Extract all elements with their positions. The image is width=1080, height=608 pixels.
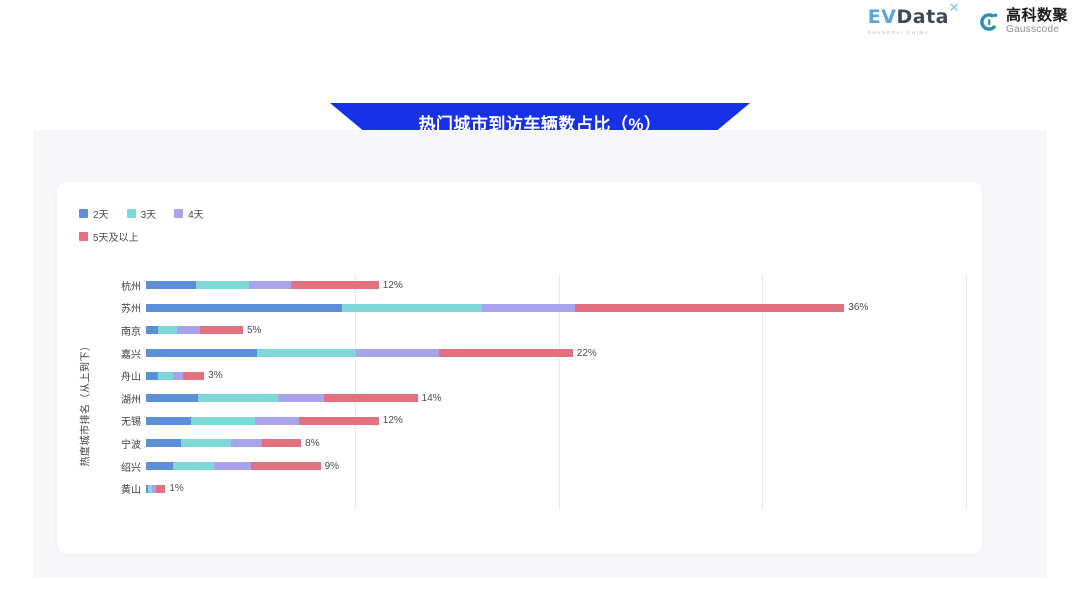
table-row[interactable]: 杭州12% <box>94 274 966 297</box>
bar-segment[interactable] <box>158 326 177 334</box>
gausscode-text: 高科数聚 Gausscode <box>1006 8 1068 35</box>
bar-segment[interactable] <box>173 462 214 470</box>
logo-divider <box>963 9 964 35</box>
legend-label-5days-plus: 5天及以上 <box>93 229 139 244</box>
slide-page: EVData ✕ shanghai china 高科数聚 Gausscode 热… <box>0 0 1080 608</box>
y-axis-title: 热度城市排名（从上到下） <box>76 316 92 491</box>
y-axis-tick-label: 舟山 <box>94 368 146 383</box>
evdata-logo: EVData ✕ shanghai china <box>868 8 949 35</box>
y-axis-tick-label: 苏州 <box>94 300 146 315</box>
bar-segment[interactable] <box>200 326 243 334</box>
bar-segment[interactable] <box>482 304 575 312</box>
bar-value-label: 8% <box>305 438 319 449</box>
legend-swatch-4days <box>174 209 183 218</box>
table-row[interactable]: 嘉兴22% <box>94 342 966 365</box>
table-row[interactable]: 南京5% <box>94 319 966 342</box>
legend-label-3days: 3天 <box>141 206 157 221</box>
bar-segment[interactable] <box>146 417 191 425</box>
legend-swatch-2days <box>79 209 88 218</box>
stacked-bar[interactable] <box>146 326 243 334</box>
bar-segment[interactable] <box>146 281 196 289</box>
bar-segment[interactable] <box>173 372 183 380</box>
bar-segment[interactable] <box>257 349 356 357</box>
bar-segment[interactable] <box>146 372 158 380</box>
legend-label-2days: 2天 <box>93 206 109 221</box>
grid-line <box>966 274 967 510</box>
bar-value-label: 36% <box>848 302 868 313</box>
bar-segment[interactable] <box>146 304 342 312</box>
table-row[interactable]: 无锡12% <box>94 410 966 433</box>
bar-value-label: 9% <box>325 461 339 472</box>
stacked-bar-chart: 热度城市排名（从上到下） 杭州12%苏州36%南京5%嘉兴22%舟山3%湖州14… <box>76 272 966 520</box>
bar-value-label: 1% <box>169 483 183 494</box>
bar-rows: 杭州12%苏州36%南京5%嘉兴22%舟山3%湖州14%无锡12%宁波8%绍兴9… <box>94 272 966 520</box>
bar-segment[interactable] <box>181 439 231 447</box>
stacked-bar[interactable] <box>146 485 165 493</box>
bar-value-label: 22% <box>577 348 597 359</box>
bar-segment[interactable] <box>146 394 198 402</box>
stacked-bar[interactable] <box>146 281 379 289</box>
bar-segment[interactable] <box>177 326 200 334</box>
evdata-wordmark: EVData ✕ <box>868 8 949 27</box>
bar-segment[interactable] <box>299 417 379 425</box>
bar-value-label: 12% <box>383 280 403 291</box>
bar-segment[interactable] <box>214 462 251 470</box>
gausscode-en-name: Gausscode <box>1006 25 1068 35</box>
chart-legend: 2天 3天 4天 5天及以上 <box>79 206 339 244</box>
bar-segment[interactable] <box>291 281 378 289</box>
plot-area: 杭州12%苏州36%南京5%嘉兴22%舟山3%湖州14%无锡12%宁波8%绍兴9… <box>94 272 966 520</box>
bar-segment[interactable] <box>262 439 301 447</box>
stacked-bar[interactable] <box>146 349 573 357</box>
bar-segment[interactable] <box>146 349 257 357</box>
bar-segment[interactable] <box>191 417 255 425</box>
bar-segment[interactable] <box>196 281 248 289</box>
table-row[interactable]: 绍兴9% <box>94 455 966 478</box>
bar-value-label: 5% <box>247 325 261 336</box>
bar-segment[interactable] <box>255 417 300 425</box>
bar-segment[interactable] <box>342 304 482 312</box>
evdata-ev-text: EV <box>868 6 897 28</box>
bar-segment[interactable] <box>251 462 321 470</box>
bar-segment[interactable] <box>439 349 573 357</box>
y-axis-tick-label: 宁波 <box>94 436 146 451</box>
bar-segment[interactable] <box>249 281 292 289</box>
table-row[interactable]: 黄山1% <box>94 477 966 500</box>
gausscode-logo: 高科数聚 Gausscode <box>978 8 1068 35</box>
legend-swatch-3days <box>127 209 136 218</box>
gauss-g-icon <box>978 11 1000 33</box>
bar-segment[interactable] <box>146 462 173 470</box>
bar-segment[interactable] <box>158 372 174 380</box>
stacked-bar[interactable] <box>146 417 379 425</box>
y-axis-tick-label: 黄山 <box>94 481 146 496</box>
legend-label-4days: 4天 <box>188 206 204 221</box>
bar-value-label: 14% <box>422 393 442 404</box>
stacked-bar[interactable] <box>146 372 204 380</box>
evdata-x-icon: ✕ <box>949 2 960 15</box>
y-axis-tick-label: 嘉兴 <box>94 346 146 361</box>
stacked-bar[interactable] <box>146 304 844 312</box>
table-row[interactable]: 苏州36% <box>94 297 966 320</box>
legend-swatch-5days-plus <box>79 232 88 241</box>
bar-segment[interactable] <box>146 439 181 447</box>
bar-segment[interactable] <box>183 372 204 380</box>
brand-logo-bar: EVData ✕ shanghai china 高科数聚 Gausscode <box>868 8 1068 35</box>
legend-item-2days[interactable]: 2天 <box>79 206 109 221</box>
bar-segment[interactable] <box>278 394 325 402</box>
y-axis-tick-label: 无锡 <box>94 413 146 428</box>
bar-segment[interactable] <box>198 394 278 402</box>
y-axis-tick-label: 南京 <box>94 323 146 338</box>
bar-value-label: 3% <box>208 370 222 381</box>
bar-segment[interactable] <box>156 485 166 493</box>
evdata-tagline: shanghai china <box>868 30 929 35</box>
y-axis-tick-label: 绍兴 <box>94 459 146 474</box>
table-row[interactable]: 湖州14% <box>94 387 966 410</box>
bar-segment[interactable] <box>231 439 262 447</box>
evdata-data-text: Data <box>896 6 949 28</box>
bar-segment[interactable] <box>324 394 417 402</box>
y-axis-tick-label: 杭州 <box>94 278 146 293</box>
table-row[interactable]: 宁波8% <box>94 432 966 455</box>
table-row[interactable]: 舟山3% <box>94 364 966 387</box>
bar-segment[interactable] <box>356 349 439 357</box>
y-axis-title-text: 热度城市排名（从上到下） <box>77 341 92 467</box>
stacked-bar[interactable] <box>146 439 301 447</box>
legend-item-5days-plus[interactable]: 5天及以上 <box>79 229 139 244</box>
bar-segment[interactable] <box>575 304 845 312</box>
legend-item-4days[interactable]: 4天 <box>174 206 204 221</box>
y-axis-tick-label: 湖州 <box>94 391 146 406</box>
bar-value-label: 12% <box>383 415 403 426</box>
stacked-bar[interactable] <box>146 462 321 470</box>
stacked-bar[interactable] <box>146 394 418 402</box>
bar-segment[interactable] <box>146 326 158 334</box>
legend-item-3days[interactable]: 3天 <box>127 206 157 221</box>
gausscode-cn-name: 高科数聚 <box>1006 8 1068 23</box>
